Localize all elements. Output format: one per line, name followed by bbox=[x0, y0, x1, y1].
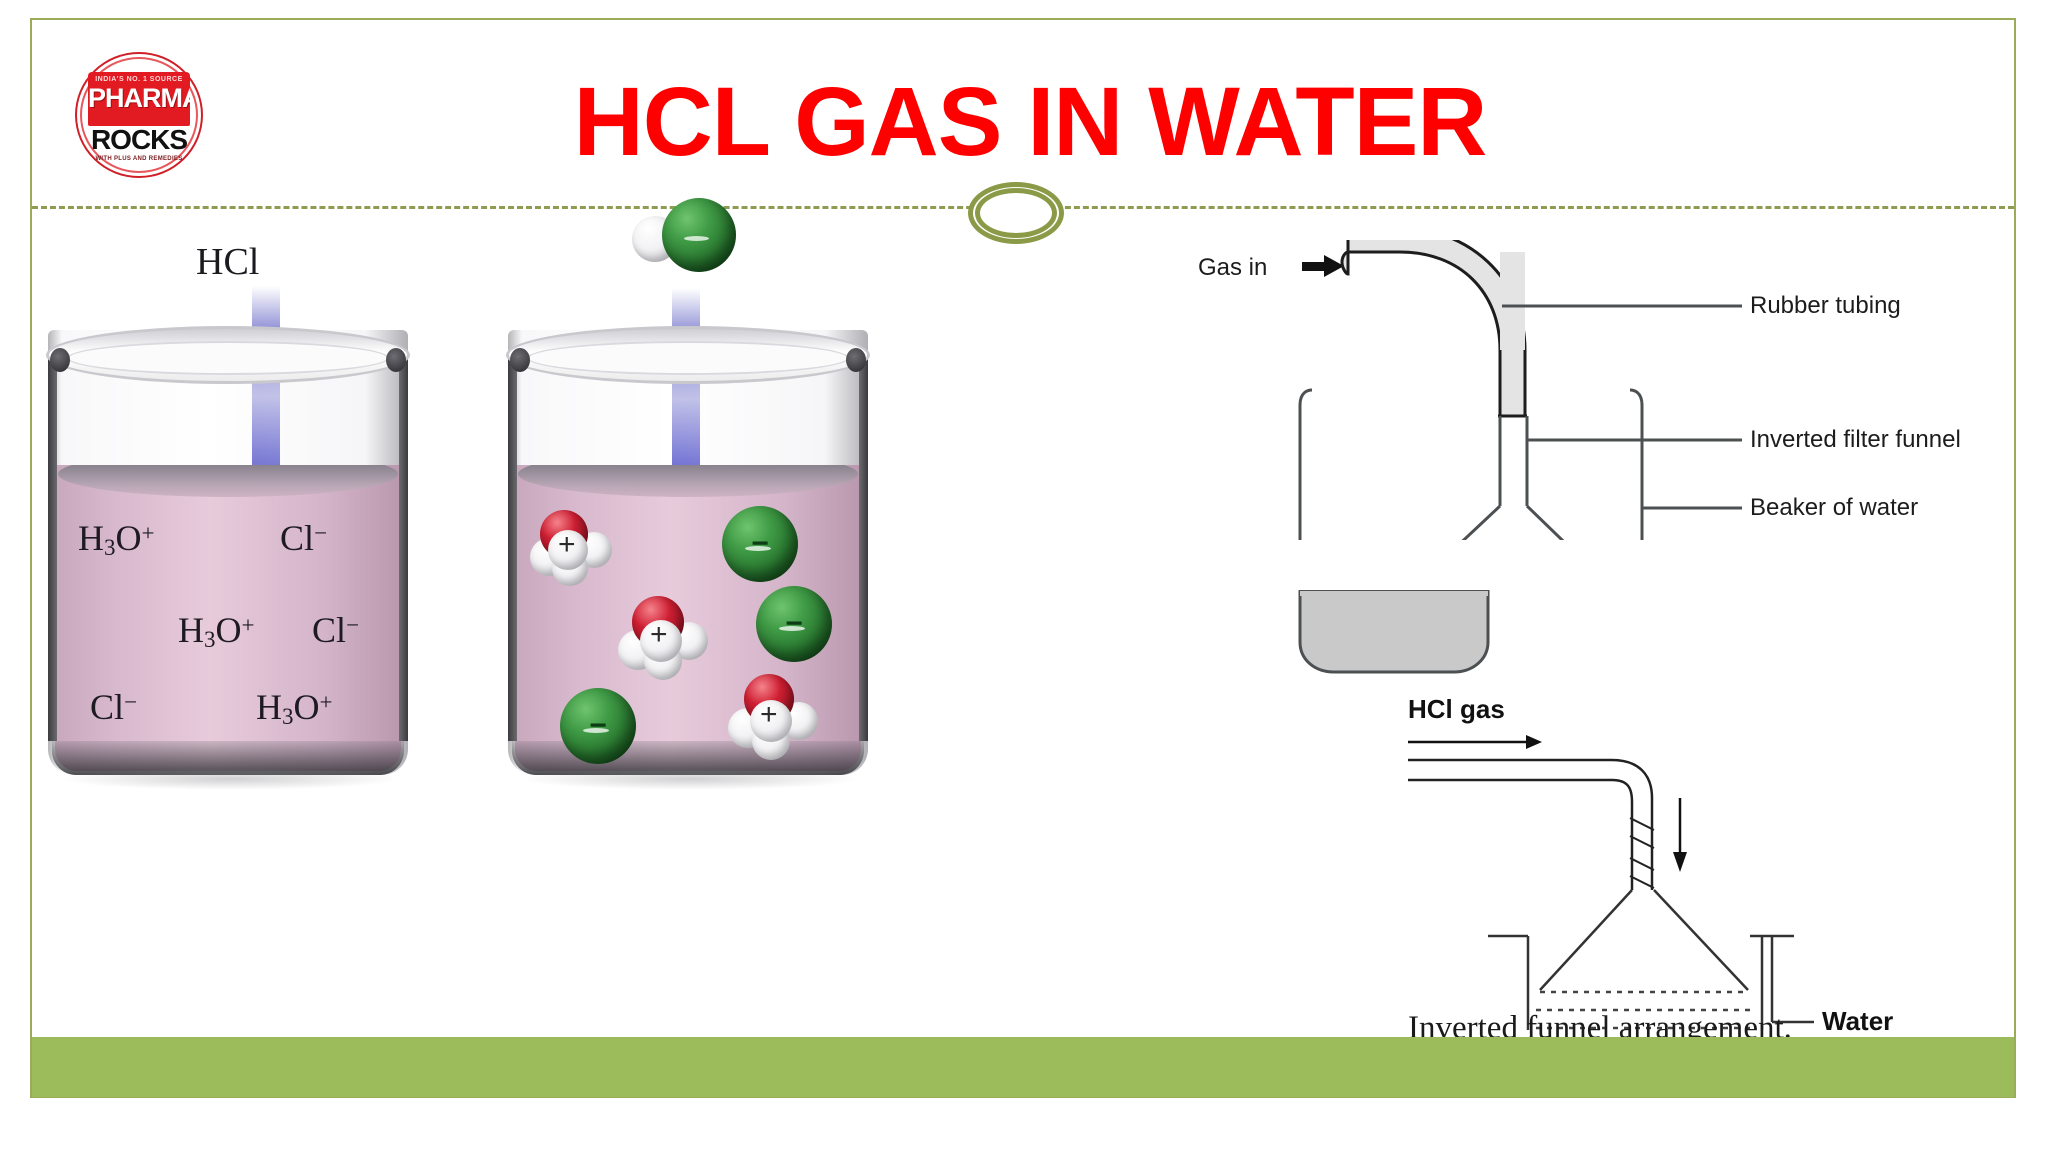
decorative-oval bbox=[968, 182, 1064, 244]
sphere-highlight bbox=[684, 236, 709, 241]
logo-tagline-bottom: WITH PLUS AND REMEDIES bbox=[88, 156, 190, 162]
chloride-ion-3: − bbox=[560, 688, 636, 764]
middle-beaker-liquid-surface bbox=[518, 465, 858, 497]
label-beaker-of-water: Beaker of water bbox=[1750, 494, 1918, 522]
label-inverted-filter-funnel: Inverted filter funnel bbox=[1750, 426, 1961, 454]
middle-beaker-rim-right-node bbox=[846, 348, 866, 372]
ion-label-cl-2: Cl− bbox=[312, 609, 359, 651]
middle-beaker-rim bbox=[506, 326, 870, 384]
left-beaker-wall-left bbox=[48, 356, 57, 741]
middle-beaker-rim-inner bbox=[527, 341, 849, 375]
slide-header: INDIA'S NO. 1 SOURCE PHARMA ROCKS WITH P… bbox=[30, 18, 2016, 208]
chlorine-atom-sphere bbox=[662, 198, 736, 272]
chloride-ion-1: − bbox=[722, 506, 798, 582]
hydronium-charge-sign: + bbox=[558, 528, 576, 562]
logo-tagline-top: INDIA'S NO. 1 SOURCE bbox=[88, 76, 190, 83]
hydronium-ion-1: + bbox=[528, 508, 618, 586]
hydronium-charge-sign: + bbox=[760, 698, 778, 732]
left-beaker-hcl-label: HCl bbox=[196, 240, 259, 284]
inverted-funnel-diagram-top: Gas in Rubber tubing bbox=[1150, 240, 1970, 540]
ion-label-cl-3: Cl− bbox=[90, 686, 137, 728]
left-beaker-shadow bbox=[60, 768, 400, 790]
left-beaker-rim-left-node bbox=[50, 348, 70, 372]
chloride-charge-sign: − bbox=[756, 586, 832, 662]
left-beaker-rim-right-node bbox=[386, 348, 406, 372]
hcl-gas-molecule bbox=[632, 198, 742, 276]
middle-beaker-wall-right bbox=[859, 356, 868, 741]
bottom-diagram-shape bbox=[1390, 690, 2010, 1030]
chloride-ion-2: − bbox=[756, 586, 832, 662]
ion-label-h3o-3: H3O+ bbox=[256, 686, 333, 730]
ion-label-h3o-2: H3O+ bbox=[178, 609, 255, 653]
page-title: HCL GAS IN WATER bbox=[450, 62, 1610, 182]
ion-label-cl-1: Cl− bbox=[280, 517, 327, 559]
hydronium-charge-sign: + bbox=[650, 618, 668, 652]
middle-beaker-shadow bbox=[520, 768, 860, 790]
left-beaker-liquid-surface bbox=[58, 465, 398, 497]
inverted-funnel-diagram-bottom: HCl gas bbox=[1390, 690, 2010, 1030]
chloride-charge-sign: − bbox=[722, 506, 798, 582]
hydronium-ion-2: + bbox=[618, 596, 714, 680]
ion-label-h3o-1: H3O+ bbox=[78, 517, 155, 561]
pharma-rocks-logo: INDIA'S NO. 1 SOURCE PHARMA ROCKS WITH P… bbox=[75, 52, 203, 178]
label-rubber-tubing: Rubber tubing bbox=[1750, 292, 1901, 320]
chloride-charge-sign: − bbox=[560, 688, 636, 764]
left-beaker-rim bbox=[46, 326, 410, 384]
left-beaker-rim-inner bbox=[67, 341, 389, 375]
logo-word-rocks: ROCKS bbox=[88, 126, 190, 154]
hydronium-ion-3: + bbox=[728, 674, 824, 758]
logo-red-plate: INDIA'S NO. 1 SOURCE PHARMA bbox=[88, 72, 190, 126]
logo-word-pharma: PHARMA bbox=[88, 85, 190, 112]
water-label: Water bbox=[1822, 1006, 1893, 1037]
left-beaker-wall-right bbox=[399, 356, 408, 741]
decorative-oval-inner bbox=[975, 188, 1057, 238]
slide-canvas: INDIA'S NO. 1 SOURCE PHARMA ROCKS WITH P… bbox=[0, 0, 2048, 1152]
middle-beaker-rim-left-node bbox=[510, 348, 530, 372]
footer-bar bbox=[32, 1037, 2014, 1097]
middle-beaker-wall-left bbox=[508, 356, 517, 741]
